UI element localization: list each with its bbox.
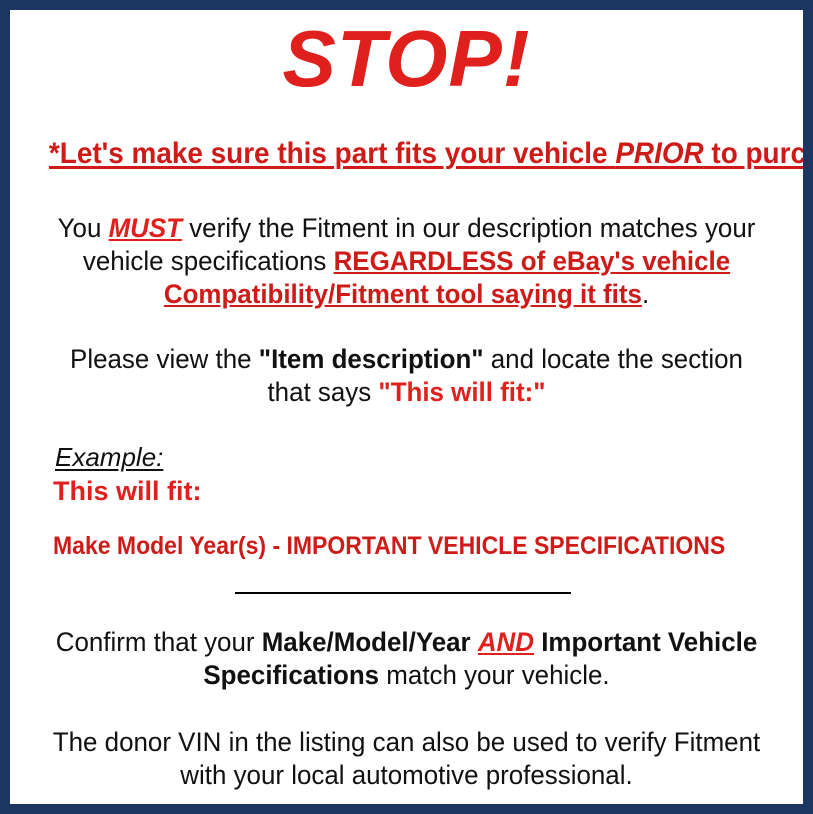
confirm-make-model-year: Make/Model/Year [262,627,471,657]
item-description-quoted: "Item description" [259,344,484,374]
stop-heading: STOP! [22,19,791,99]
paragraph-donor-vin: The donor VIN in the listing can also be… [37,726,775,792]
subtitle-emphasis-prior: PRIOR [615,137,703,170]
subtitle-tail-text: to purchasing* [704,137,813,170]
must-emphasis: MUST [109,213,182,243]
fitment-subtitle: *Let's make sure this part fits your veh… [49,137,764,170]
confirm-part-one: Confirm that your [56,627,262,657]
confirm-emphasis-and: AND [478,627,534,657]
confirm-space-two [534,627,541,657]
fitment-notice-card: STOP! *Let's make sure this part fits yo… [0,0,813,814]
horizontal-rule [235,592,571,594]
paragraph-confirm: Confirm that your Make/Model/Year AND Im… [37,626,775,692]
paragraph-item-description: Please view the "Item description" and l… [37,343,775,409]
notice-content: STOP! *Let's make sure this part fits yo… [10,19,803,813]
example-label-row: Example: [55,443,791,473]
this-will-fit-quoted: "This will fit:" [378,377,545,407]
example-vehicle-spec-line: Make Model Year(s) - IMPORTANT VEHICLE S… [53,533,732,561]
confirm-space-one [471,627,478,657]
must-part-one: You [58,213,109,243]
example-this-will-fit: This will fit: [53,476,791,507]
must-period: . [642,279,649,309]
paragraph-must-verify: You MUST verify the Fitment in our descr… [37,212,775,311]
example-label: Example: [55,443,163,473]
subtitle-lead-text: *Let's make sure this part fits your veh… [49,137,615,170]
description-part-one: Please view the [70,344,259,374]
confirm-part-two: match your vehicle. [379,660,610,690]
example-block: Example: This will fit: Make Model Year(… [22,443,791,560]
separator-row [22,592,791,596]
